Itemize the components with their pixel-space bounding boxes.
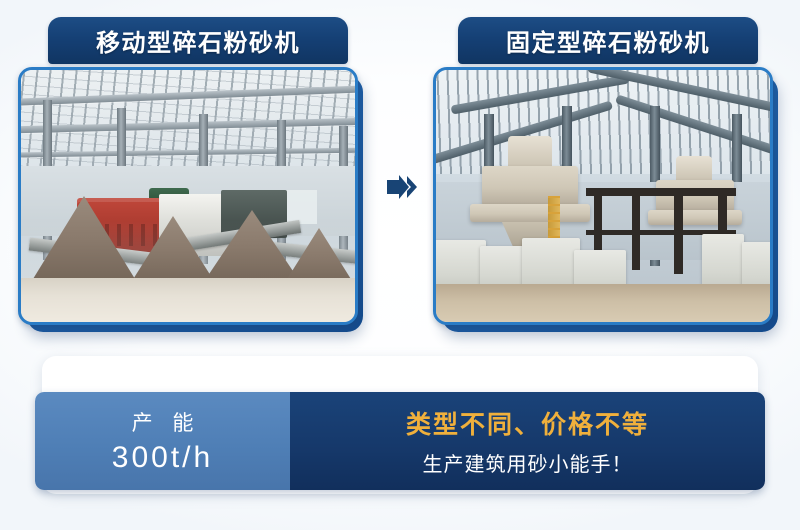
message-headline: 类型不同、价格不等 bbox=[406, 405, 649, 441]
photo-frame-mobile bbox=[18, 67, 358, 325]
panel-title-mobile-label: 移动型碎石粉砂机 bbox=[96, 23, 300, 58]
double-chevron-right-icon bbox=[385, 174, 421, 200]
photo-image-mobile bbox=[21, 70, 355, 322]
capacity-label: 产 能 bbox=[125, 407, 201, 437]
photo-card-mobile bbox=[18, 67, 363, 332]
transition-arrow bbox=[383, 172, 423, 202]
message-subline: 生产建筑用砂小能手！ bbox=[423, 448, 633, 477]
photo-image-stationary bbox=[436, 70, 770, 322]
infographic-canvas: 移动型碎石粉砂机 固定型碎石粉砂机 bbox=[0, 0, 800, 530]
message-panel: 类型不同、价格不等 生产建筑用砂小能手！ bbox=[290, 392, 765, 490]
summary-bar: 产 能 300t/h 类型不同、价格不等 生产建筑用砂小能手！ bbox=[35, 392, 765, 490]
capacity-value: 300t/h bbox=[112, 441, 213, 475]
panel-title-mobile: 移动型碎石粉砂机 bbox=[48, 17, 348, 64]
capacity-panel: 产 能 300t/h bbox=[35, 392, 290, 490]
photo-card-stationary bbox=[433, 67, 778, 332]
panel-title-stationary: 固定型碎石粉砂机 bbox=[458, 17, 758, 64]
panel-title-stationary-label: 固定型碎石粉砂机 bbox=[506, 23, 710, 58]
photo-frame-stationary bbox=[433, 67, 773, 325]
